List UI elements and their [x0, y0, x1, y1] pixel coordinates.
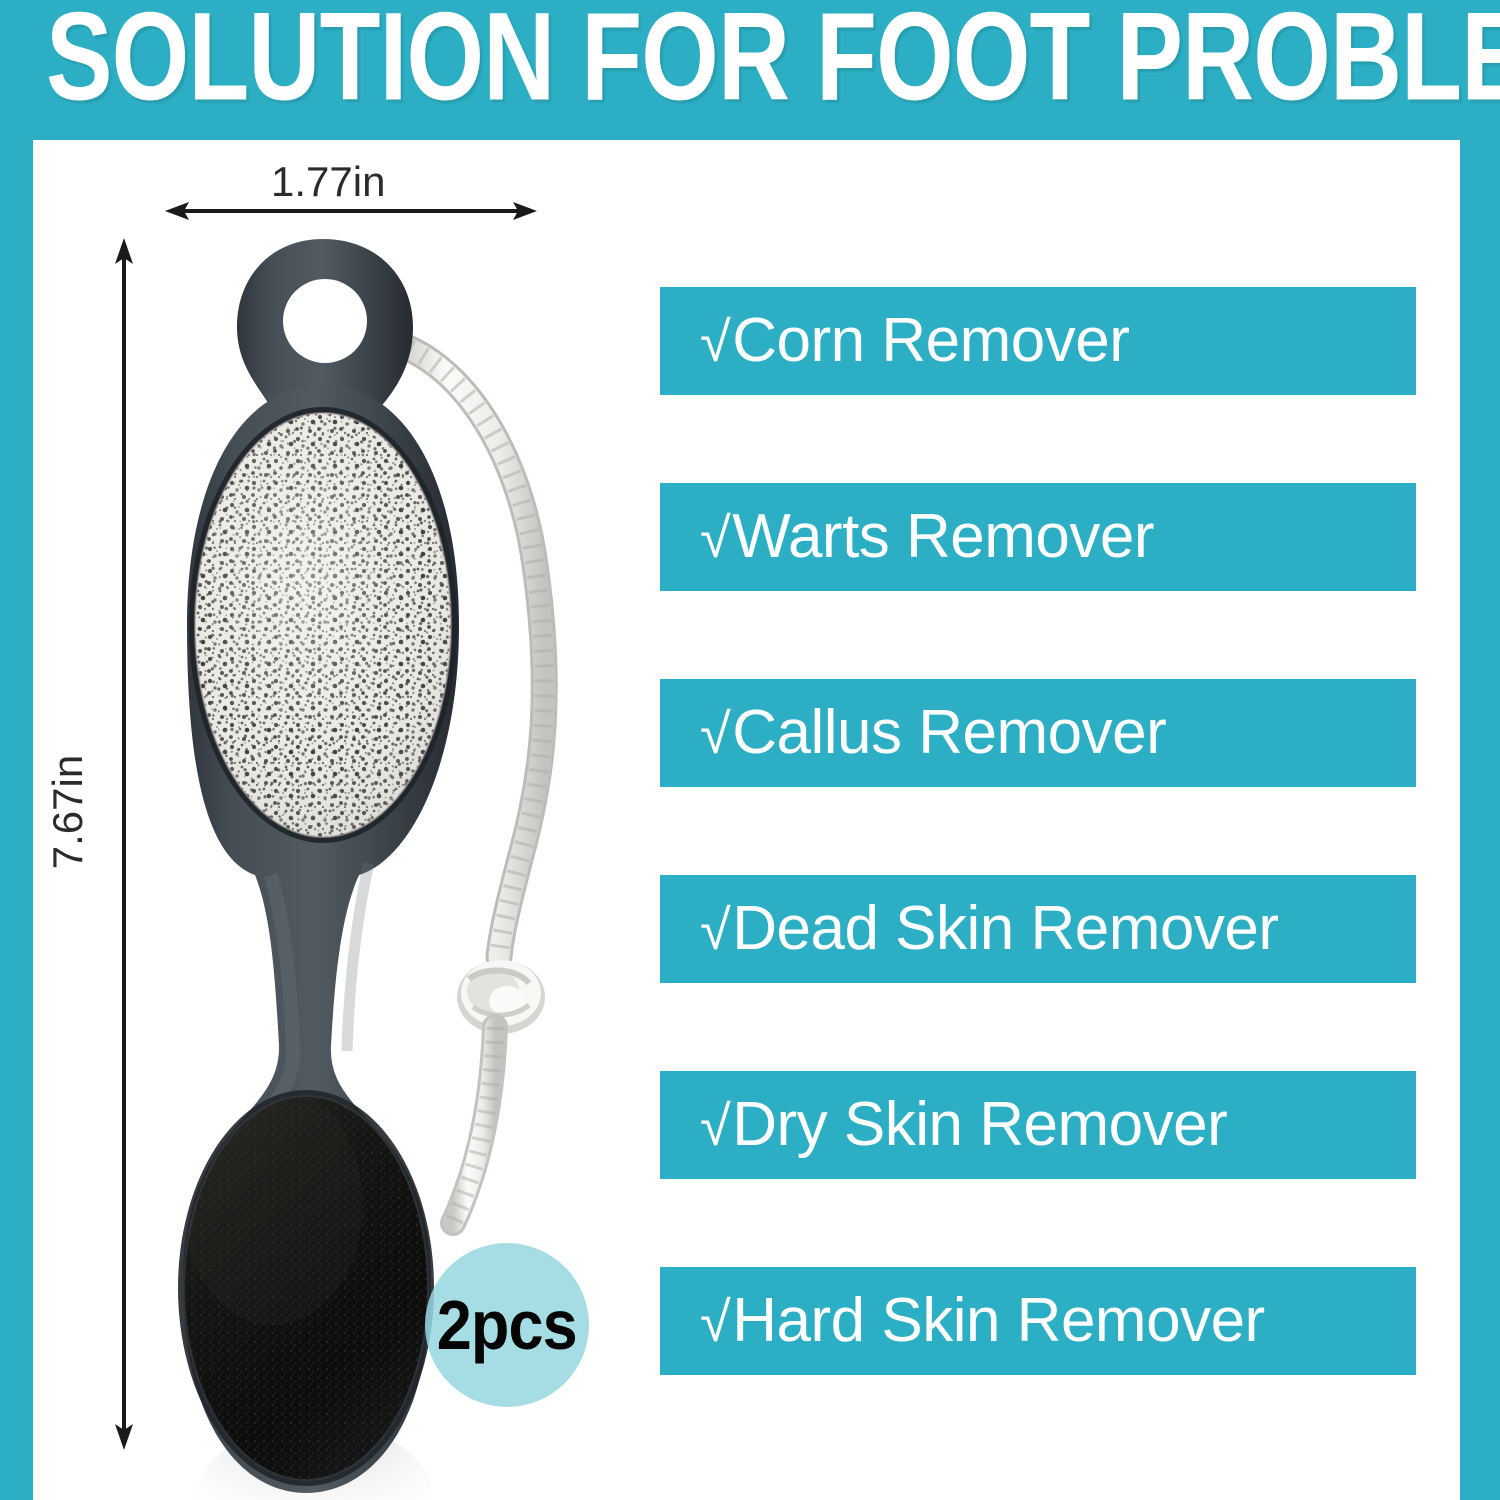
check-icon: √ — [700, 1094, 732, 1157]
dimension-height-label: 7.67in — [44, 755, 92, 869]
feature-label: √Corn Remover — [700, 308, 1129, 375]
feature-bar-callus-remover: √Callus Remover — [660, 679, 1416, 787]
feature-bar-warts-remover: √Warts Remover — [660, 483, 1416, 591]
feature-label: √Callus Remover — [700, 700, 1166, 767]
feature-label: √Hard Skin Remover — [700, 1288, 1265, 1355]
feature-bar-dead-skin-remover: √Dead Skin Remover — [660, 875, 1416, 983]
feature-list: √Corn Remover √Warts Remover √Callus Rem… — [660, 287, 1416, 1375]
feature-bar-corn-remover: √Corn Remover — [660, 287, 1416, 395]
check-icon: √ — [700, 506, 732, 569]
check-icon: √ — [700, 898, 732, 961]
check-icon: √ — [700, 1290, 732, 1353]
feature-label-text: Dry Skin Remover — [732, 1090, 1227, 1159]
page-title: SOLUTION FOR FOOT PROBLEM — [46, 0, 1237, 126]
feature-bar-dry-skin-remover: √Dry Skin Remover — [660, 1071, 1416, 1179]
check-icon: √ — [700, 702, 732, 765]
feature-label: √Dead Skin Remover — [700, 896, 1279, 963]
infographic-page: SOLUTION FOR FOOT PROBLEM 1.77in 7.67in — [0, 0, 1500, 1500]
pcs-badge-label: 2pcs — [437, 1290, 577, 1360]
product-photo — [163, 215, 683, 1500]
feature-bar-hard-skin-remover: √Hard Skin Remover — [660, 1267, 1416, 1375]
feature-label: √Warts Remover — [700, 504, 1154, 571]
feature-label: √Dry Skin Remover — [700, 1092, 1227, 1159]
check-icon: √ — [700, 310, 732, 373]
content-card: 1.77in 7.67in — [33, 140, 1460, 1500]
feature-label-text: Dead Skin Remover — [732, 894, 1278, 963]
header-band: SOLUTION FOR FOOT PROBLEM — [0, 0, 1500, 140]
feature-label-text: Hard Skin Remover — [732, 1286, 1264, 1355]
dimension-height-arrow-icon — [111, 238, 137, 1450]
feature-label-text: Warts Remover — [732, 502, 1154, 571]
feature-label-text: Corn Remover — [732, 306, 1129, 375]
feature-label-text: Callus Remover — [732, 698, 1166, 767]
pcs-badge: 2pcs — [425, 1243, 589, 1407]
